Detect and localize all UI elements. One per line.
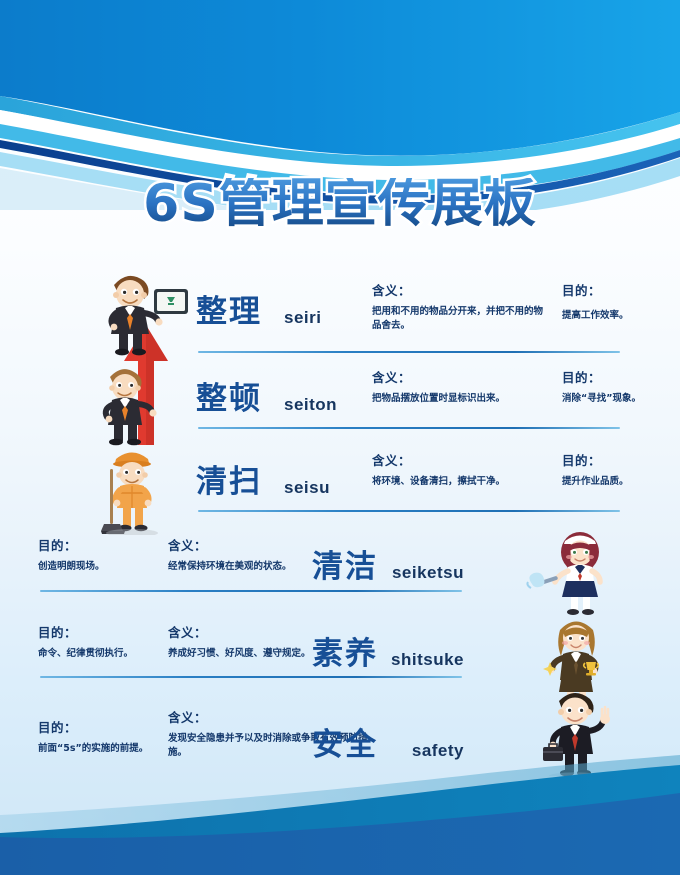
row-shitsuke: 目的： 命令、纪律贯彻执行。 含义： 养成好习惯、好风度、遵守规定。 素养 sh… — [38, 627, 464, 711]
row-seiketsu: 目的： 创造明朗现场。 含义： 经常保持环境在美观的状态。 清洁 seikets… — [38, 540, 464, 624]
row-seisu-purpose-column: 目的： 提升作业品质。 — [562, 455, 680, 489]
row-seiri-purpose-column: 目的： 提高工作效率。 — [562, 285, 680, 323]
girl-with-mop-figure — [527, 532, 600, 615]
row-seisu: 清扫 seisu 含义： 将环境、设备清扫，擦拭干净。 目的： 提升作业品质。 — [196, 455, 622, 539]
row-seiketsu-kanji: 清洁 — [312, 552, 378, 583]
row-seiton-purpose-text: 消除“寻找”现象。 — [562, 392, 680, 406]
row-seiton: 整顿 seiton 含义： 把物品摆放位置时显标识出来。 目的： 消除“寻找”现… — [196, 372, 622, 456]
poster-title-text: 6S管理宣传展板 — [0, 178, 680, 230]
meaning-label: 含义： — [372, 285, 552, 298]
meaning-label: 含义： — [372, 372, 552, 385]
row-shitsuke-purpose-text: 命令、纪律贯彻执行。 — [38, 647, 188, 661]
row-shitsuke-purpose-column: 目的： 命令、纪律贯彻执行。 — [38, 627, 188, 661]
row-seiri-meaning-column: 含义： 把用和不用的物品分开来，并把不用的物品舍去。 — [372, 285, 552, 333]
row-shitsuke-romaji: shitsuke — [391, 651, 464, 668]
row-seiton-romaji: seiton — [284, 396, 337, 413]
row-seiri: 整理 seiri 含义： 把用和不用的物品分开来，并把不用的物品舍去。 目的： … — [196, 285, 622, 369]
row-safety-purpose-text: 前面“5s”的实施的前提。 — [38, 742, 188, 756]
row-divider-5 — [40, 676, 462, 678]
poster-title: 6S管理宣传展板 6S管理宣传展板 — [0, 178, 680, 238]
row-seiri-kanji: 整理 — [196, 297, 262, 328]
row-seisu-romaji: seisu — [284, 479, 330, 496]
row-seiketsu-romaji: seiketsu — [392, 564, 464, 581]
row-safety-purpose-column: 目的： 前面“5s”的实施的前提。 — [38, 722, 188, 756]
poster-canvas: 6S管理宣传展板 6S管理宣传展板 — [0, 0, 680, 875]
purpose-label: 目的： — [38, 627, 188, 640]
row-seiton-meaning-column: 含义： 把物品摆放位置时显标识出来。 — [372, 372, 552, 406]
row-seiton-meaning-text: 把物品摆放位置时显标识出来。 — [372, 392, 552, 406]
row-seisu-purpose-text: 提升作业品质。 — [562, 475, 680, 489]
row-seiketsu-purpose-column: 目的： 创造明朗现场。 — [38, 540, 188, 574]
row-seiton-purpose-column: 目的： 消除“寻找”现象。 — [562, 372, 680, 406]
purpose-label: 目的： — [562, 285, 680, 298]
purpose-label: 目的： — [562, 455, 680, 468]
row-divider-2 — [198, 427, 620, 429]
row-divider-3 — [198, 510, 620, 512]
row-shitsuke-kanji: 素养 — [312, 639, 378, 670]
row-seiton-kanji: 整顿 — [196, 384, 262, 415]
row-seiri-romaji: seiri — [284, 309, 321, 326]
row-seisu-meaning-text: 将环境、设备清扫，擦拭干净。 — [372, 475, 552, 489]
meaning-label: 含义： — [168, 712, 368, 725]
janitor-with-broom-figure — [101, 453, 158, 536]
row-seisu-meaning-column: 含义： 将环境、设备清扫，擦拭干净。 — [372, 455, 552, 489]
meaning-label: 含义： — [372, 455, 552, 468]
row-divider-4 — [40, 590, 462, 592]
purpose-label: 目的： — [38, 722, 188, 735]
left-illustration-group — [86, 265, 206, 535]
right-illustration-group — [520, 528, 660, 776]
purpose-label: 目的： — [38, 540, 188, 553]
row-seiri-purpose-text: 提高工作效率。 — [562, 309, 680, 323]
row-seiri-meaning-text: 把用和不用的物品分开来，并把不用的物品舍去。 — [372, 305, 552, 334]
row-seiketsu-purpose-text: 创造明朗现场。 — [38, 560, 188, 574]
purpose-label: 目的： — [562, 372, 680, 385]
row-divider-1 — [198, 351, 620, 353]
row-seisu-kanji: 清扫 — [196, 467, 262, 498]
footer-wave-graphic — [0, 755, 680, 875]
